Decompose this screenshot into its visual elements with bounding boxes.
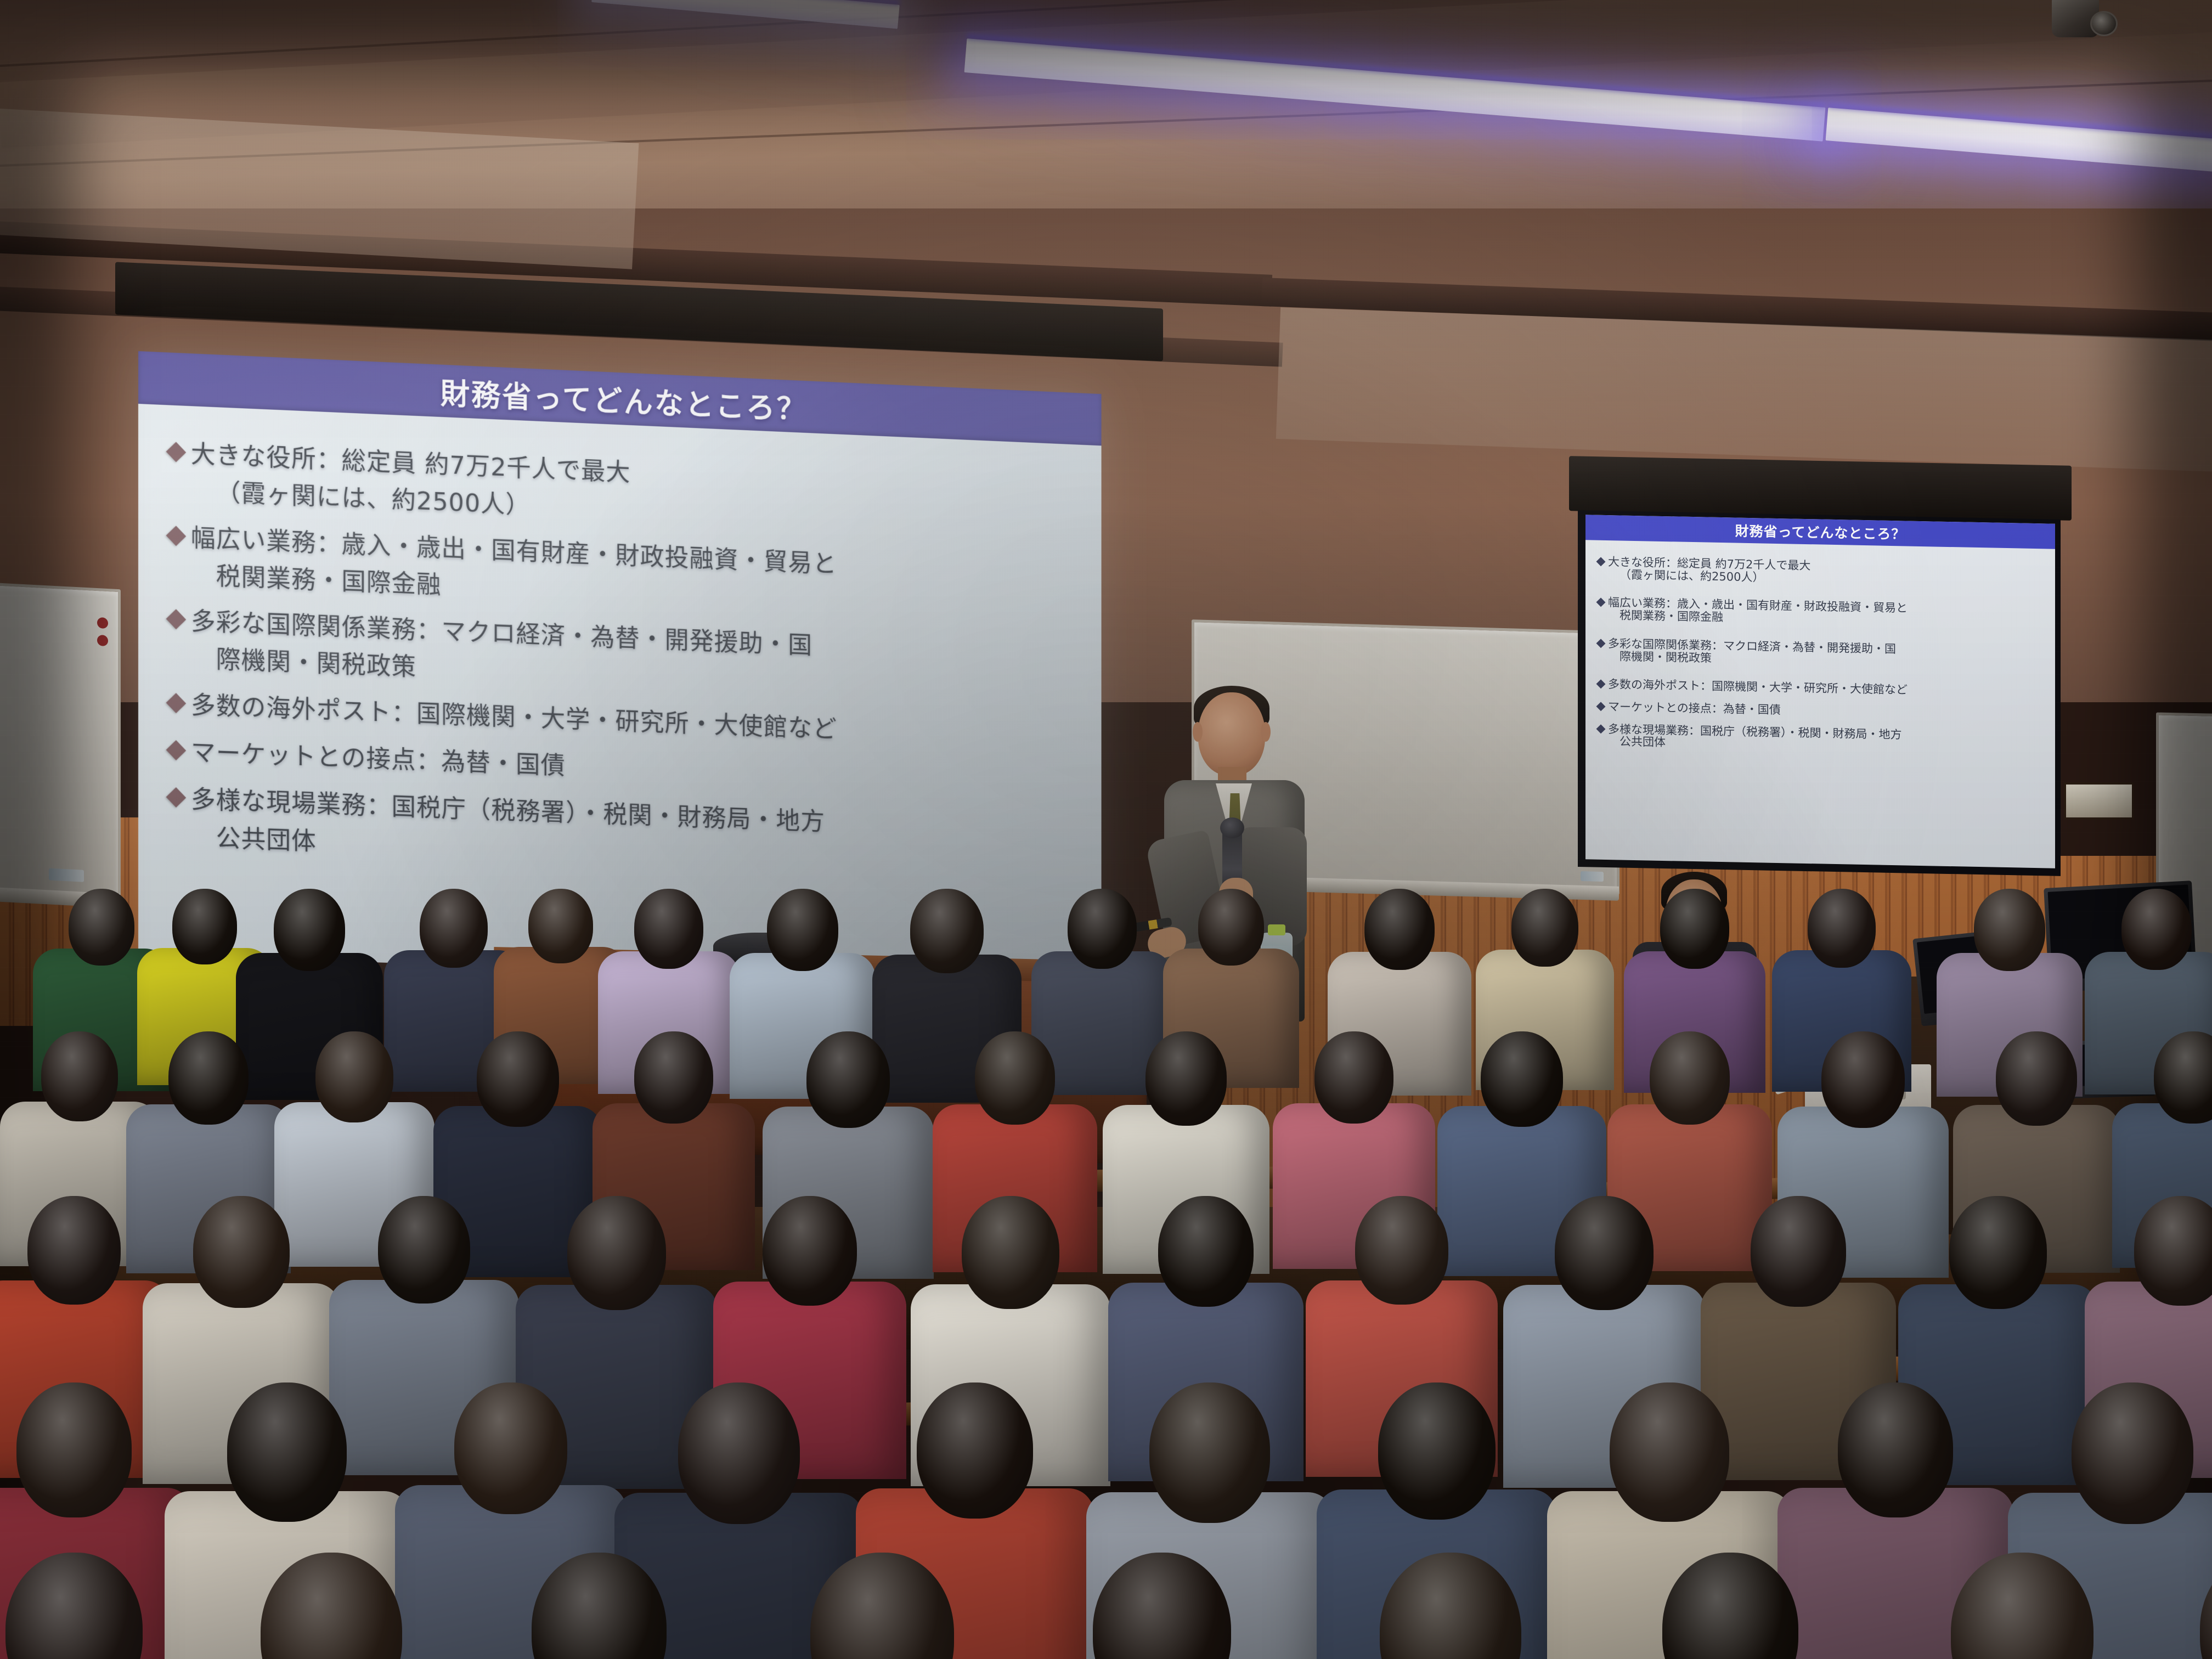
audience-member-head: [477, 1031, 559, 1127]
diamond-bullet-icon: [166, 740, 187, 760]
audience-member-head: [27, 1196, 121, 1305]
diamond-bullet-icon: [166, 787, 187, 808]
audience-member-head: [1198, 889, 1264, 966]
audience-member-head: [2121, 889, 2192, 970]
audience-member: [187, 1553, 476, 1659]
slide-bullet-text: 多数の海外ポスト：国際機関・大学・研究所・大使館など: [1608, 677, 1908, 698]
audience-member-head: [1808, 889, 1876, 968]
audience-member-head: [1949, 1196, 2047, 1309]
audience-member-head: [1158, 1196, 1254, 1307]
audience-member-head: [41, 1031, 118, 1121]
audience-member-head: [378, 1196, 470, 1304]
audience-member-head: [910, 889, 984, 973]
slide-title-secondary: 財務省ってどんなところ？: [1735, 521, 1906, 544]
audience-member-head: [227, 1383, 347, 1522]
audience-member: [1876, 1553, 2168, 1659]
audience-member: [735, 1553, 1029, 1659]
audience-member-head: [274, 889, 345, 971]
audience-member: [1306, 1553, 1595, 1659]
audience-member-head: [2072, 1383, 2193, 1524]
audience-member: [2129, 1553, 2212, 1659]
audience-member-head: [315, 1031, 393, 1122]
audience-member-head: [678, 1383, 800, 1524]
audience-member-head: [1378, 1383, 1496, 1520]
slide-bullet-text: マーケットとの接点：為替・国債: [1608, 699, 1781, 718]
audience-member-head: [1555, 1196, 1654, 1310]
lecture-hall-photo: 財務省ってどんなところ？ 大きな役所：総定員 約7万2千人で最大（霞ヶ関には、約…: [0, 0, 2212, 1659]
slide-bullet: マーケットとの接点：為替・国債: [1598, 699, 2045, 723]
whiteboard-left: [0, 583, 121, 902]
audience-member-head: [1996, 1031, 2077, 1126]
audience-member-head: [193, 1196, 290, 1308]
microphone-head: [1220, 817, 1244, 838]
diamond-bullet-icon: [1596, 724, 1606, 733]
diamond-bullet-icon: [1596, 639, 1606, 648]
audience-member-head: [261, 1553, 402, 1659]
audience-member-head: [172, 889, 237, 964]
audience-member-head: [16, 1383, 132, 1517]
secondary-projection-screen: 財務省ってどんなところ？ 大きな役所：総定員 約7万2千人で最大（霞ヶ関には、約…: [1578, 510, 2061, 876]
side-screen-housing: [1569, 456, 2072, 521]
audience-member-head: [1481, 1031, 1563, 1127]
audience-member-head: [2134, 1196, 2212, 1306]
audience-member-head: [168, 1031, 249, 1125]
diamond-bullet-icon: [166, 442, 187, 462]
audience-member-head: [1951, 1553, 2093, 1659]
slide-bullet: 多数の海外ポスト：国際機関・大学・研究所・大使館など: [1598, 677, 2045, 701]
audience-member-head: [5, 1553, 143, 1659]
audience-member-head: [1355, 1196, 1448, 1305]
audience-member-head: [975, 1031, 1055, 1125]
audience-member-head: [420, 889, 488, 968]
audience-member-head: [634, 1031, 713, 1124]
audience-member-head: [454, 1383, 567, 1514]
audience-member-head: [2200, 1553, 2212, 1659]
audience-member: [461, 1553, 737, 1659]
audience-member-head: [1380, 1553, 1521, 1659]
audience-member-head: [1093, 1553, 1231, 1659]
audience-member-head: [634, 889, 703, 969]
audience-member-head: [1650, 1031, 1730, 1125]
audience-member-head: [1751, 1196, 1846, 1307]
audience-member-head: [1145, 1031, 1227, 1126]
audience-member-head: [1364, 889, 1435, 970]
wall-control-panel: [2064, 782, 2134, 820]
diamond-bullet-icon: [1596, 680, 1606, 689]
audience-member-head: [1821, 1031, 1905, 1128]
presenter-head: [1198, 692, 1265, 776]
audience-member-head: [917, 1383, 1033, 1519]
diamond-bullet-icon: [1596, 598, 1606, 607]
audience-member-head: [1068, 889, 1137, 969]
audience-member-head: [1511, 889, 1578, 967]
diamond-bullet-icon: [166, 526, 187, 546]
audience-member-head: [806, 1031, 890, 1128]
slide-bullet-text: マーケットとの接点：為替・国債: [191, 736, 566, 783]
audience-member-head: [1974, 889, 2045, 971]
audience-member: [1020, 1553, 1304, 1659]
audience-member-head: [962, 1196, 1059, 1309]
audience-member: [1591, 1553, 1870, 1659]
slide-body-secondary: 大きな役所：総定員 約7万2千人で最大（霞ヶ関には、約2500人）幅広い業務：歳…: [1585, 540, 2055, 758]
audience-member-head: [1314, 1031, 1393, 1124]
audience-member-head: [1149, 1383, 1270, 1523]
audience-member-head: [763, 1196, 857, 1306]
audience-member-head: [532, 1553, 667, 1659]
audience-member-head: [528, 889, 593, 963]
audience-member-head: [810, 1553, 954, 1659]
audience-member-head: [1838, 1383, 1953, 1517]
audience-member-head: [69, 889, 134, 966]
audience-member-head: [1660, 889, 1729, 969]
audience-member-head: [567, 1196, 666, 1310]
slide-bullet-text: 多数の海外ポスト：国際機関・大学・研究所・大使館など: [191, 689, 837, 746]
audience-member: [0, 1553, 214, 1659]
diamond-bullet-icon: [166, 693, 187, 713]
diamond-bullet-icon: [1596, 557, 1606, 566]
audience-member-head: [767, 889, 838, 971]
diamond-bullet-icon: [166, 610, 187, 630]
audience-member-head: [1610, 1383, 1729, 1522]
diamond-bullet-icon: [1596, 702, 1606, 711]
audience-member-head: [1662, 1553, 1798, 1659]
